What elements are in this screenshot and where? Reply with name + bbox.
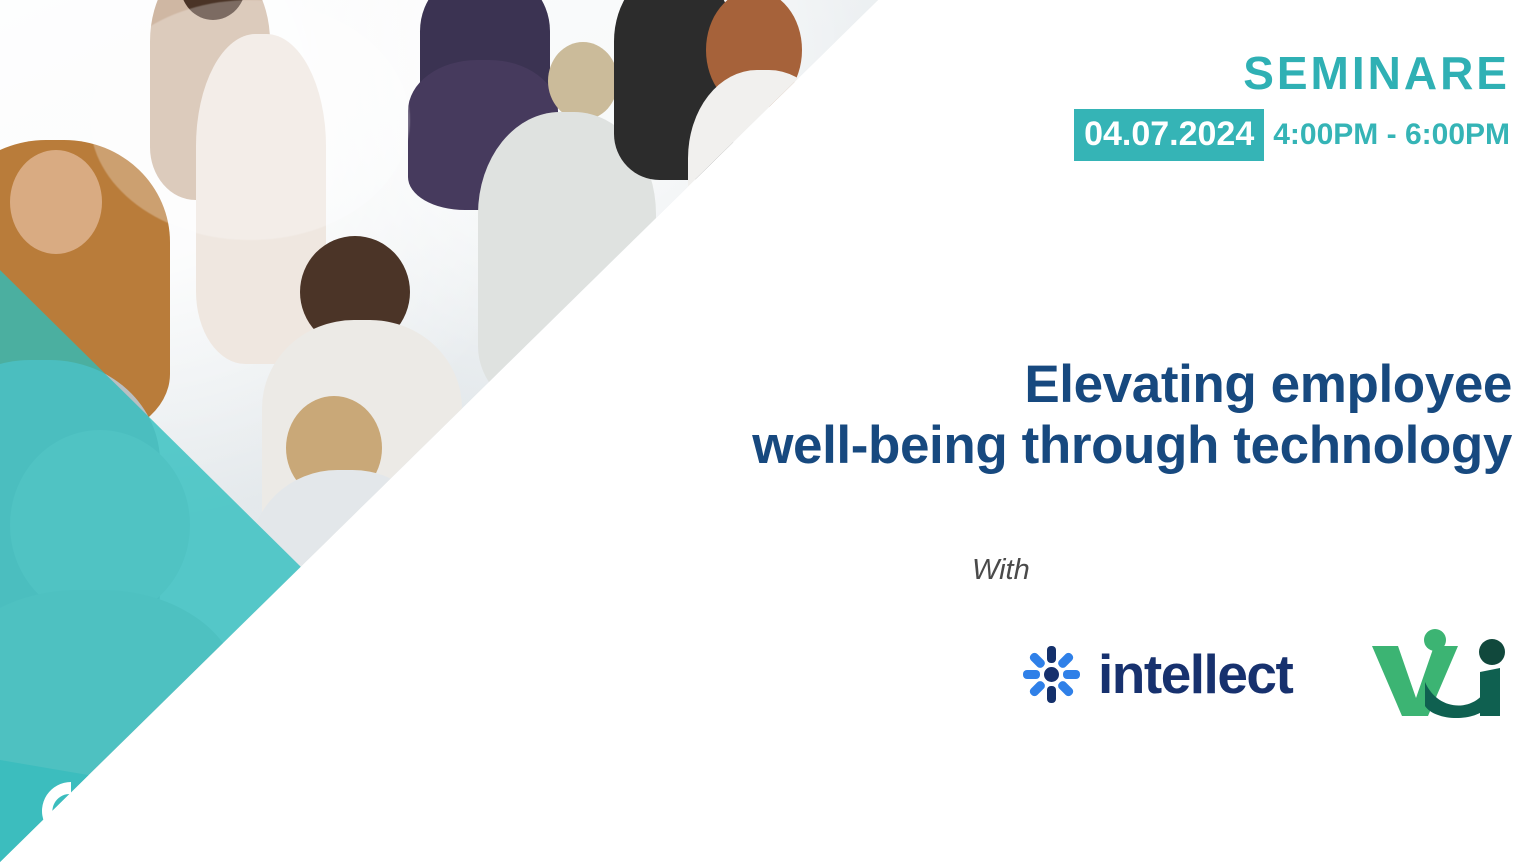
burst-icon <box>1020 643 1082 705</box>
organizer-line-2: VIETNAM <box>120 811 277 838</box>
vui-wordmark-icon <box>1368 628 1516 720</box>
date-badge: 04.07.2024 <box>1074 109 1264 161</box>
title-line-2: well-being through technology <box>632 415 1512 476</box>
event-banner: SEMINARE 04.07.2024 4:00PM - 6:00PM Elev… <box>0 0 1536 862</box>
datetime-row: 04.07.2024 4:00PM - 6:00PM <box>1074 109 1510 161</box>
partner-logo-intellect: intellect <box>1020 643 1292 705</box>
partner-logos: intellect <box>1020 628 1516 720</box>
organizer-line-1: CCI FRANCE <box>120 784 277 811</box>
event-meta: SEMINARE 04.07.2024 4:00PM - 6:00PM <box>1074 50 1510 161</box>
cci-circle-monogram-icon <box>38 778 104 844</box>
photo-highlight <box>90 0 410 240</box>
photo-figure <box>250 470 440 720</box>
intellect-wordmark: intellect <box>1098 647 1292 702</box>
photo-figure-head <box>10 150 102 254</box>
title-line-1: Elevating employee <box>632 354 1512 415</box>
eyebrow-seminare: SEMINARE <box>1074 50 1510 96</box>
with-label: With <box>972 554 1030 587</box>
organizer-name: CCI FRANCE VIETNAM <box>120 784 277 838</box>
burst-core <box>1044 667 1059 682</box>
page-title: Elevating employee well-being through te… <box>632 354 1512 477</box>
content-panel: SEMINARE 04.07.2024 4:00PM - 6:00PM Elev… <box>620 0 1536 862</box>
partner-logo-vui <box>1368 628 1516 720</box>
organizer-logo-cci-france-vietnam: CCI FRANCE VIETNAM <box>38 778 277 844</box>
time-text: 4:00PM - 6:00PM <box>1273 120 1510 150</box>
photo-figure-head <box>548 42 618 120</box>
